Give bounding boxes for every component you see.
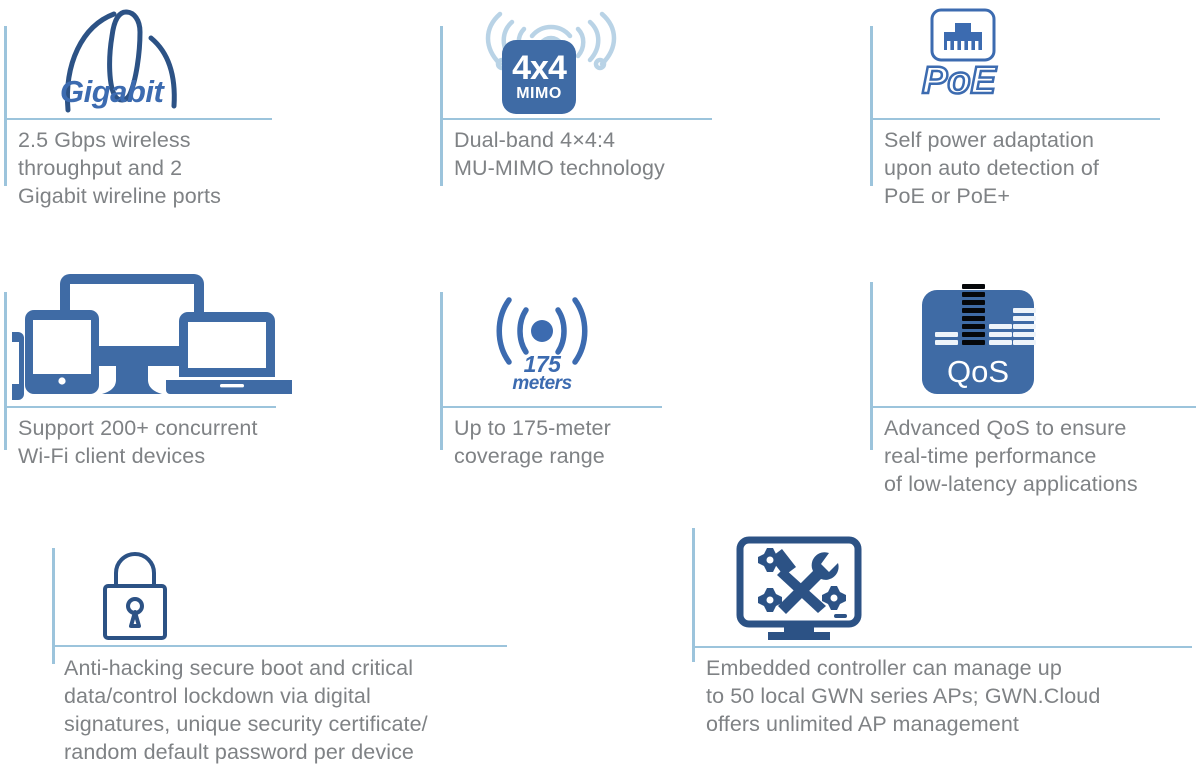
bracket-horizontal-rule [870,118,1160,120]
padlock-icon [92,544,178,649]
qos-equalizer-icon: QoS [922,290,1034,394]
equalizer-bars [922,290,1034,394]
feature-description: Advanced QoS to ensure real-time perform… [884,414,1200,498]
mimo-badge-sub-label: MIMO [516,85,562,103]
bracket-horizontal-rule [870,406,1196,408]
equalizer-column-1 [935,332,958,348]
feature-description: Support 200+ concurrent Wi-Fi client dev… [18,414,318,470]
gigabit-wordmark: Gigabit [60,74,163,110]
bracket-vertical-rule [4,26,7,186]
feature-grid: Gigabit 2.5 Gbps wireless throughput and… [0,0,1200,768]
feature-card-mu-mimo: 4x4 MIMO Dual-band 4×4:4 MU-MIMO technol… [440,26,720,216]
equalizer-column-2 [962,284,985,348]
multi-device-icon [12,272,292,411]
feature-card-concurrent-clients: Support 200+ concurrent Wi-Fi client dev… [4,292,294,482]
bracket-vertical-rule [440,292,443,450]
coverage-value-label: 175 [488,354,596,374]
bracket-horizontal-rule [440,406,662,408]
feature-card-gigabit-throughput: Gigabit 2.5 Gbps wireless throughput and… [4,26,284,216]
mimo-badge-main-label: 4x4 [512,51,566,85]
bracket-vertical-rule [440,26,443,186]
feature-card-coverage-range: 175 meters Up to 175-meter coverage rang… [440,292,700,482]
feature-description: Dual-band 4×4:4 MU-MIMO technology [454,126,744,182]
feature-description: Up to 175-meter coverage range [454,414,724,470]
bracket-vertical-rule [4,292,7,450]
bracket-vertical-rule [870,26,873,186]
feature-description: Self power adaptation upon auto detectio… [884,126,1184,210]
equalizer-column-3 [989,324,1012,348]
feature-card-advanced-qos: QoS Advanced QoS to ensure real-time per… [870,282,1200,492]
feature-card-poe-power: PoE Self power adaptation upon auto dete… [870,26,1170,216]
monitor-tools-icon [734,536,864,649]
mimo-badge: 4x4 MIMO [502,40,576,114]
coverage-wordmark: 175 meters [488,354,596,393]
feature-card-security-lockdown: Anti-hacking secure boot and critical da… [52,548,522,768]
feature-card-embedded-controller: Embedded controller can manage up to 50 … [692,528,1192,758]
feature-description: Embedded controller can manage up to 50 … [706,654,1200,738]
bracket-vertical-rule [870,282,873,450]
bracket-horizontal-rule [440,118,712,120]
poe-wordmark: PoE [922,60,996,103]
equalizer-column-4 [1013,308,1036,348]
feature-description: Anti-hacking secure boot and critical da… [64,654,544,766]
feature-description: 2.5 Gbps wireless throughput and 2 Gigab… [18,126,298,210]
bracket-vertical-rule [692,528,695,662]
coverage-unit-label: meters [488,374,596,393]
